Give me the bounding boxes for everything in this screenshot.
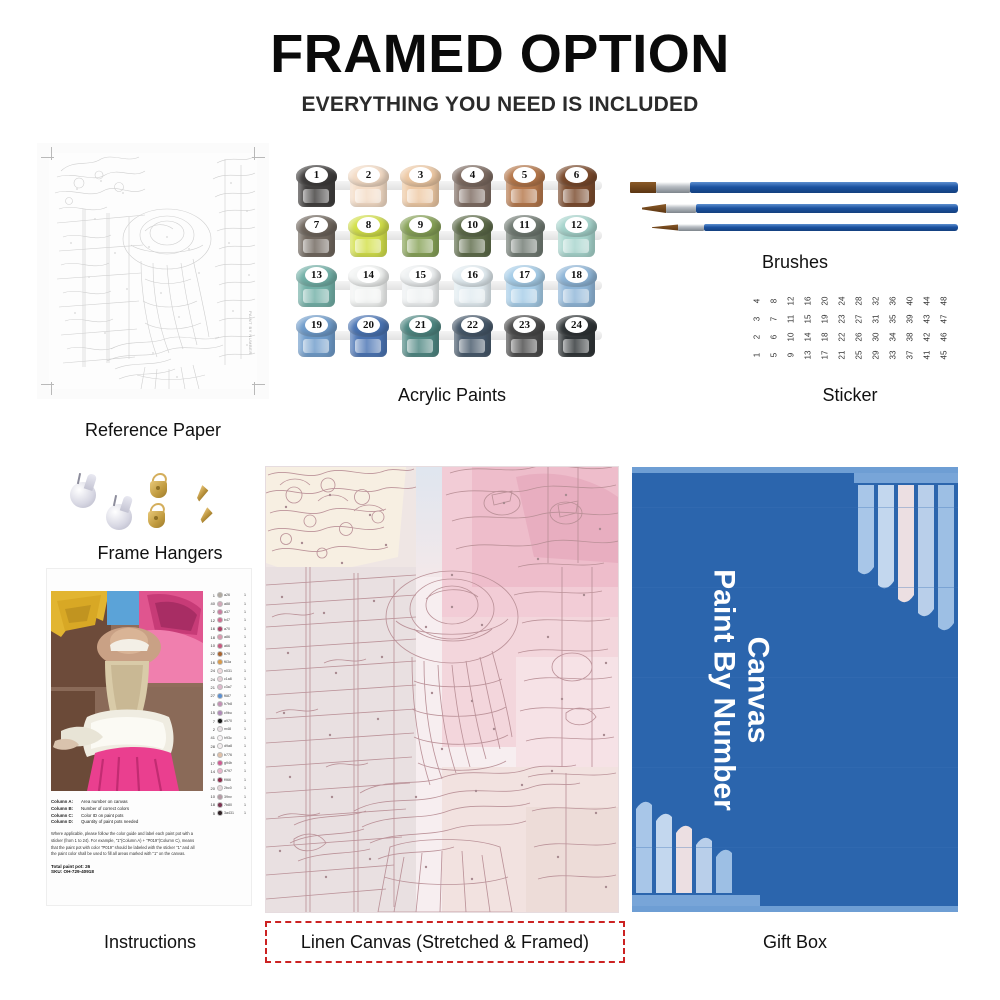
- legend-number: 2: [207, 727, 215, 732]
- paint-pot-21: 21: [400, 315, 441, 359]
- caption-gift-box: Gift Box: [700, 932, 890, 953]
- legend-color-dot: [217, 726, 223, 732]
- sticker-number: 45: [935, 347, 953, 364]
- paint-pot-sheen: [407, 339, 433, 353]
- legend-number: 18: [207, 635, 215, 640]
- legend-row: 18a861: [207, 633, 249, 641]
- paint-pot-number: 19: [305, 317, 328, 333]
- paint-pot-8: 8: [348, 215, 389, 259]
- brush-ferrule: [666, 204, 696, 213]
- legend-color-code: a66: [224, 644, 243, 648]
- legend-row: 28d9a81: [207, 742, 249, 750]
- legend-row: 41h93c1: [207, 734, 249, 742]
- brush-round-medium: [642, 204, 958, 213]
- paint-pot-sheen: [511, 189, 537, 203]
- legend-quantity: 1: [244, 803, 249, 807]
- sticker-number-grid: 4812162024283236404448371115192327313539…: [748, 292, 952, 364]
- sticker-number: 14: [799, 329, 817, 346]
- d-ring-hanger: [148, 504, 165, 528]
- legend-row: 8f9661: [207, 776, 249, 784]
- paint-pot-sheen: [511, 289, 537, 303]
- paint-pot-row: 192021222324: [296, 315, 608, 361]
- legend-color-code: d797: [224, 769, 243, 773]
- sticker-number: 3: [748, 311, 766, 328]
- legend-color-code: 39nv: [224, 795, 243, 799]
- paint-pot-number: 16: [461, 267, 484, 283]
- legend-color-code: b47: [224, 618, 243, 622]
- sticker-number: 32: [867, 293, 885, 310]
- linen-canvas-image: [266, 467, 618, 912]
- paint-pot-22: 22: [452, 315, 493, 359]
- paint-pot-13: 13: [296, 265, 337, 309]
- legend-number: 15: [207, 710, 215, 715]
- paint-pot-sheen: [303, 339, 329, 353]
- legend-number: 24: [207, 668, 215, 673]
- legend-number: 20: [207, 786, 215, 791]
- legend-color-code: a970: [224, 719, 243, 723]
- paint-pot-sheen: [355, 189, 381, 203]
- column-key: Column A:: [51, 799, 77, 806]
- paint-pot-number: 5: [513, 167, 536, 183]
- legend-number: 14: [207, 769, 215, 774]
- legend-color-dot: [217, 668, 223, 674]
- paint-pot-sheen: [563, 189, 589, 203]
- sku-value: OH-729-40918: [64, 869, 94, 874]
- instructions-column-line: Column B:Number of correct colors: [51, 806, 201, 813]
- legend-row: 40a881: [207, 599, 249, 607]
- legend-quantity: 1: [244, 618, 249, 622]
- paint-pot-number: 12: [565, 217, 588, 233]
- legend-color-code: f687: [224, 694, 243, 698]
- legend-color-dot: [217, 743, 223, 749]
- legend-quantity: 1: [244, 694, 249, 698]
- legend-color-dot: [217, 710, 223, 716]
- wall-hook: [70, 482, 96, 508]
- legend-color-dot: [217, 601, 223, 607]
- legend-row: 17g94b1: [207, 759, 249, 767]
- instructions-sheet: 1a26140a8812a37112b47116a70118a86110a661…: [46, 568, 252, 906]
- sticker-number: 28: [850, 293, 868, 310]
- legend-color-dot: [217, 777, 223, 783]
- column-desc: Area number on canvas: [81, 799, 128, 806]
- legend-number: 7: [207, 719, 215, 724]
- paint-pot-sheen: [563, 239, 589, 253]
- crop-mark: [254, 382, 255, 395]
- gift-box-title-line2: Paint By Number: [708, 569, 742, 811]
- paint-pot-number: 13: [305, 267, 328, 283]
- sticker-number: 44: [918, 293, 936, 310]
- paint-pot-sheen: [511, 239, 537, 253]
- paint-pot-sheen: [459, 289, 485, 303]
- sticker-number: 41: [918, 347, 936, 364]
- paint-pot-number: 6: [565, 167, 588, 183]
- legend-row: 8h7b81: [207, 700, 249, 708]
- sticker-number: 42: [918, 329, 936, 346]
- instructions-column-line: Column D:Quantity of paint pots needed: [51, 819, 201, 826]
- legend-number: 24: [207, 677, 215, 682]
- legend-color-dot: [217, 693, 223, 699]
- instructions-column-line: Column A:Area number on canvas: [51, 799, 201, 806]
- legend-number: 16: [207, 626, 215, 631]
- legend-number: 8: [207, 702, 215, 707]
- sticker-number: 13: [799, 347, 817, 364]
- legend-quantity: 1: [244, 744, 249, 748]
- legend-row: 187b801: [207, 801, 249, 809]
- paint-pot-7: 7: [296, 215, 337, 259]
- brushes-image: [628, 178, 958, 262]
- legend-color-dot: [217, 735, 223, 741]
- paint-pot-number: 4: [461, 167, 484, 183]
- instructions-sku-line: SKU: OH-729-40918: [51, 869, 201, 874]
- legend-quantity: 1: [244, 677, 249, 681]
- paint-pot-16: 16: [452, 265, 493, 309]
- brush-ferrule: [656, 182, 690, 193]
- legend-number: 27: [207, 693, 215, 698]
- paint-pot-sheen: [303, 189, 329, 203]
- paint-pot-24: 24: [556, 315, 597, 359]
- legend-number: 10: [207, 794, 215, 799]
- paint-pot-sheen: [303, 289, 329, 303]
- legend-color-dot: [217, 768, 223, 774]
- legend-row: 1039nv1: [207, 792, 249, 800]
- paint-pot-number: 15: [409, 267, 432, 283]
- column-desc: Color ID on paint pots: [81, 813, 123, 820]
- paint-pot-15: 15: [400, 265, 441, 309]
- paint-pot-sheen: [355, 339, 381, 353]
- paint-pot-18: 18: [556, 265, 597, 309]
- paint-pot-23: 23: [504, 315, 545, 359]
- legend-color-code: c1a8: [224, 677, 243, 681]
- legend-number: 18: [207, 802, 215, 807]
- paint-pot-number: 20: [357, 317, 380, 333]
- legend-number: 1: [207, 593, 215, 598]
- page-title: FRAMED OPTION: [0, 26, 1000, 83]
- sticker-number: 46: [935, 329, 953, 346]
- legend-quantity: 1: [244, 795, 249, 799]
- paint-pot-sheen: [407, 289, 433, 303]
- legend-color-dot: [217, 810, 223, 816]
- paint-pot-number: 7: [305, 217, 328, 233]
- legend-color-code: f966: [224, 778, 243, 782]
- legend-color-dot: [217, 651, 223, 657]
- sticker-number: 8: [765, 293, 783, 310]
- instructions-column-defs: Column A:Area number on canvasColumn B:N…: [51, 799, 201, 826]
- legend-color-code: b79: [224, 652, 243, 656]
- legend-row: 1a261: [207, 591, 249, 599]
- legend-quantity: 1: [244, 736, 249, 740]
- legend-color-code: n031: [224, 669, 243, 673]
- legend-quantity: 1: [244, 778, 249, 782]
- paint-pot-3: 3: [400, 165, 441, 209]
- gift-box-title: Canvas Paint By Number: [708, 569, 775, 811]
- legend-row: 14d7971: [207, 767, 249, 775]
- legend-row: 7a9701: [207, 717, 249, 725]
- paint-pot-sheen: [563, 339, 589, 353]
- legend-color-dot: [217, 701, 223, 707]
- legend-row: 8b7761: [207, 750, 249, 758]
- legend-number: 17: [207, 761, 215, 766]
- reference-paper-image: PAINT BY NUMBER: [37, 143, 269, 399]
- legend-color-dot: [217, 684, 223, 690]
- legend-color-dot: [217, 752, 223, 758]
- paint-pot-sheen: [355, 239, 381, 253]
- legend-row: 24n0311: [207, 667, 249, 675]
- legend-color-dot: [217, 718, 223, 724]
- paint-pot-12: 12: [556, 215, 597, 259]
- crop-mark: [41, 157, 54, 158]
- paint-pot-6: 6: [556, 165, 597, 209]
- sticker-number: 21: [833, 347, 851, 364]
- legend-quantity: 1: [244, 761, 249, 765]
- legend-quantity: 1: [244, 602, 249, 606]
- legend-quantity: 1: [244, 660, 249, 664]
- sticker-number: 18: [816, 329, 834, 346]
- legend-quantity: 1: [244, 593, 249, 597]
- brush-bristles: [652, 224, 678, 231]
- sticker-number: 25: [850, 347, 868, 364]
- sku-label: SKU:: [51, 869, 62, 874]
- legend-quantity: 1: [244, 811, 249, 815]
- legend-color-code: 3a431: [224, 811, 243, 815]
- legend-color-dot: [217, 659, 223, 665]
- legend-color-dot: [217, 785, 223, 791]
- legend-color-code: c9bu: [224, 711, 243, 715]
- sticker-number: 31: [867, 311, 885, 328]
- paint-pot-number: 18: [565, 267, 588, 283]
- sticker-number: 40: [901, 293, 919, 310]
- crop-mark: [41, 384, 54, 385]
- gift-box-graphics: [632, 467, 958, 912]
- caption-sticker: Sticker: [744, 385, 956, 406]
- legend-color-code: f63a: [224, 660, 243, 664]
- legend-number: 5: [207, 811, 215, 816]
- brush-ferrule: [678, 224, 704, 231]
- instructions-note: Where applicable, please follow the colo…: [51, 831, 201, 858]
- legend-number: 28: [207, 744, 215, 749]
- wall-hook: [106, 504, 132, 530]
- sticker-number: 2: [748, 329, 766, 346]
- legend-color-code: a70: [224, 627, 243, 631]
- paint-pot-20: 20: [348, 315, 389, 359]
- legend-number: 10: [207, 643, 215, 648]
- caption-instructions: Instructions: [40, 932, 260, 953]
- column-desc: Quantity of paint pots needed: [81, 819, 138, 826]
- caption-acrylic-paints: Acrylic Paints: [296, 385, 608, 406]
- legend-color-code: c3a7: [224, 685, 243, 689]
- legend-color-code: d9a8: [224, 744, 243, 748]
- legend-color-code: 7b80: [224, 803, 243, 807]
- legend-row: 53a4311: [207, 809, 249, 817]
- legend-color-code: h93c: [224, 736, 243, 740]
- legend-row: 21c3a71: [207, 683, 249, 691]
- sticker-number: 27: [850, 311, 868, 328]
- paint-pot-number: 11: [513, 217, 536, 233]
- sticker-number: 11: [782, 311, 800, 328]
- legend-color-dot: [217, 617, 223, 623]
- paint-pot-17: 17: [504, 265, 545, 309]
- paint-pot-sheen: [459, 189, 485, 203]
- sticker-number: 4: [748, 293, 766, 310]
- sticker-number: 7: [765, 311, 783, 328]
- legend-quantity: 1: [244, 610, 249, 614]
- sticker-number: 39: [901, 311, 919, 328]
- header: FRAMED OPTION EVERYTHING YOU NEED IS INC…: [0, 26, 1000, 117]
- legend-color-code: a26: [224, 593, 243, 597]
- paint-pot-9: 9: [400, 215, 441, 259]
- paint-pot-number: 24: [565, 317, 588, 333]
- sticker-number: 15: [799, 311, 817, 328]
- legend-row: 27f6871: [207, 692, 249, 700]
- sticker-number: 29: [867, 347, 885, 364]
- paint-pot-number: 17: [513, 267, 536, 283]
- sticker-number: 22: [833, 329, 851, 346]
- caption-frame-hangers: Frame Hangers: [40, 543, 280, 564]
- legend-quantity: 1: [244, 786, 249, 790]
- sticker-number: 16: [799, 293, 817, 310]
- legend-quantity: 1: [244, 727, 249, 731]
- legend-row: 202bc01: [207, 784, 249, 792]
- legend-color-dot: [217, 609, 223, 615]
- legend-number: 21: [207, 685, 215, 690]
- brush-handle: [704, 224, 958, 231]
- sticker-number: 1: [748, 347, 766, 364]
- legend-quantity: 1: [244, 669, 249, 673]
- gift-box-image: Canvas Paint By Number: [632, 467, 958, 912]
- legend-row: 2m481: [207, 725, 249, 733]
- paint-pot-sheen: [563, 289, 589, 303]
- brush-bristles: [642, 204, 666, 213]
- preview-artwork: [51, 591, 203, 791]
- sticker-number: 10: [782, 329, 800, 346]
- gift-box-title-line1: Canvas: [741, 569, 775, 811]
- legend-color-code: m48: [224, 727, 243, 731]
- legend-number: 41: [207, 735, 215, 740]
- reference-line-art: [49, 153, 257, 389]
- legend-color-dot: [217, 626, 223, 632]
- sticker-number: 20: [816, 293, 834, 310]
- caption-reference-paper: Reference Paper: [37, 420, 269, 441]
- paint-pot-5: 5: [504, 165, 545, 209]
- legend-number: 2: [207, 609, 215, 614]
- paint-pot-sheen: [355, 289, 381, 303]
- paint-pot-sheen: [407, 189, 433, 203]
- legend-row: 2a371: [207, 608, 249, 616]
- instructions-column-line: Column C:Color ID on paint pots: [51, 813, 201, 820]
- legend-row: 12b471: [207, 616, 249, 624]
- legend-color-dot: [217, 760, 223, 766]
- legend-quantity: 1: [244, 711, 249, 715]
- legend-number: 8: [207, 777, 215, 782]
- legend-color-code: a88: [224, 602, 243, 606]
- sticker-number: 9: [782, 347, 800, 364]
- legend-number: 22: [207, 651, 215, 656]
- brush-bristles: [630, 182, 656, 193]
- crop-mark: [51, 382, 52, 395]
- legend-number: 16: [207, 660, 215, 665]
- sticker-number: 23: [833, 311, 851, 328]
- sticker-sheet: 4812162024283236404448371115192327313539…: [744, 288, 956, 368]
- legend-row: 16a701: [207, 625, 249, 633]
- paint-pot-sheen: [459, 339, 485, 353]
- legend-number: 8: [207, 752, 215, 757]
- legend-quantity: 1: [244, 719, 249, 723]
- instructions-text-block: Column A:Area number on canvasColumn B:N…: [51, 799, 201, 874]
- sticker-number: 19: [816, 311, 834, 328]
- legend-color-code: a37: [224, 610, 243, 614]
- legend-color-code: 2bc0: [224, 786, 243, 790]
- legend-color-dot: [217, 676, 223, 682]
- sticker-number: 26: [850, 329, 868, 346]
- paint-pot-11: 11: [504, 215, 545, 259]
- legend-number: 12: [207, 618, 215, 623]
- infographic-page: FRAMED OPTION EVERYTHING YOU NEED IS INC…: [0, 0, 1000, 1000]
- sticker-number: 38: [901, 329, 919, 346]
- legend-color-dot: [217, 592, 223, 598]
- paint-pot-19: 19: [296, 315, 337, 359]
- legend-quantity: 1: [244, 685, 249, 689]
- legend-quantity: 1: [244, 635, 249, 639]
- paint-pot-number: 10: [461, 217, 484, 233]
- legend-quantity: 1: [244, 753, 249, 757]
- paint-pot-number: 23: [513, 317, 536, 333]
- legend-quantity: 1: [244, 702, 249, 706]
- legend-number: 40: [207, 601, 215, 606]
- page-subtitle: EVERYTHING YOU NEED IS INCLUDED: [0, 93, 1000, 117]
- legend-row: 10a661: [207, 641, 249, 649]
- paint-pot-number: 2: [357, 167, 380, 183]
- acrylic-paints-grid: 123456789101112131415161718192021222324: [296, 165, 608, 365]
- column-key: Column D:: [51, 819, 77, 826]
- paint-pot-number: 8: [357, 217, 380, 233]
- brush-flat-large: [630, 182, 958, 193]
- paint-pot-row: 131415161718: [296, 265, 608, 311]
- sticker-number: 36: [884, 293, 902, 310]
- legend-color-code: g94b: [224, 761, 243, 765]
- column-key: Column C:: [51, 813, 77, 820]
- reference-paper-sheet: PAINT BY NUMBER: [49, 153, 257, 389]
- legend-row: 16f63a1: [207, 658, 249, 666]
- paint-pot-14: 14: [348, 265, 389, 309]
- caption-linen-canvas: Linen Canvas (Stretched & Framed): [265, 932, 625, 953]
- legend-color-dot: [217, 634, 223, 640]
- sticker-number: 43: [918, 311, 936, 328]
- caption-brushes: Brushes: [700, 252, 890, 273]
- instructions-color-preview: [51, 591, 203, 791]
- canvas-artwork: [266, 467, 618, 912]
- paint-pot-sheen: [511, 339, 537, 353]
- paint-pot-sheen: [303, 239, 329, 253]
- crop-mark: [51, 147, 52, 160]
- paint-pot-row: 123456: [296, 165, 608, 211]
- sticker-number: 6: [765, 329, 783, 346]
- sticker-number: 47: [935, 311, 953, 328]
- legend-color-code: h7b8: [224, 702, 243, 706]
- legend-color-dot: [217, 794, 223, 800]
- paint-pot-row: 789101112: [296, 215, 608, 261]
- column-key: Column B:: [51, 806, 77, 813]
- column-desc: Number of correct colors: [81, 806, 129, 813]
- paint-pot-number: 21: [409, 317, 432, 333]
- paint-pot-4: 4: [452, 165, 493, 209]
- sticker-number: 37: [901, 347, 919, 364]
- brush-handle: [696, 204, 958, 213]
- brush-handle: [690, 182, 958, 193]
- legend-quantity: 1: [244, 652, 249, 656]
- legend-quantity: 1: [244, 627, 249, 631]
- sticker-number: 35: [884, 311, 902, 328]
- sticker-number: 5: [765, 347, 783, 364]
- crop-mark: [254, 147, 255, 160]
